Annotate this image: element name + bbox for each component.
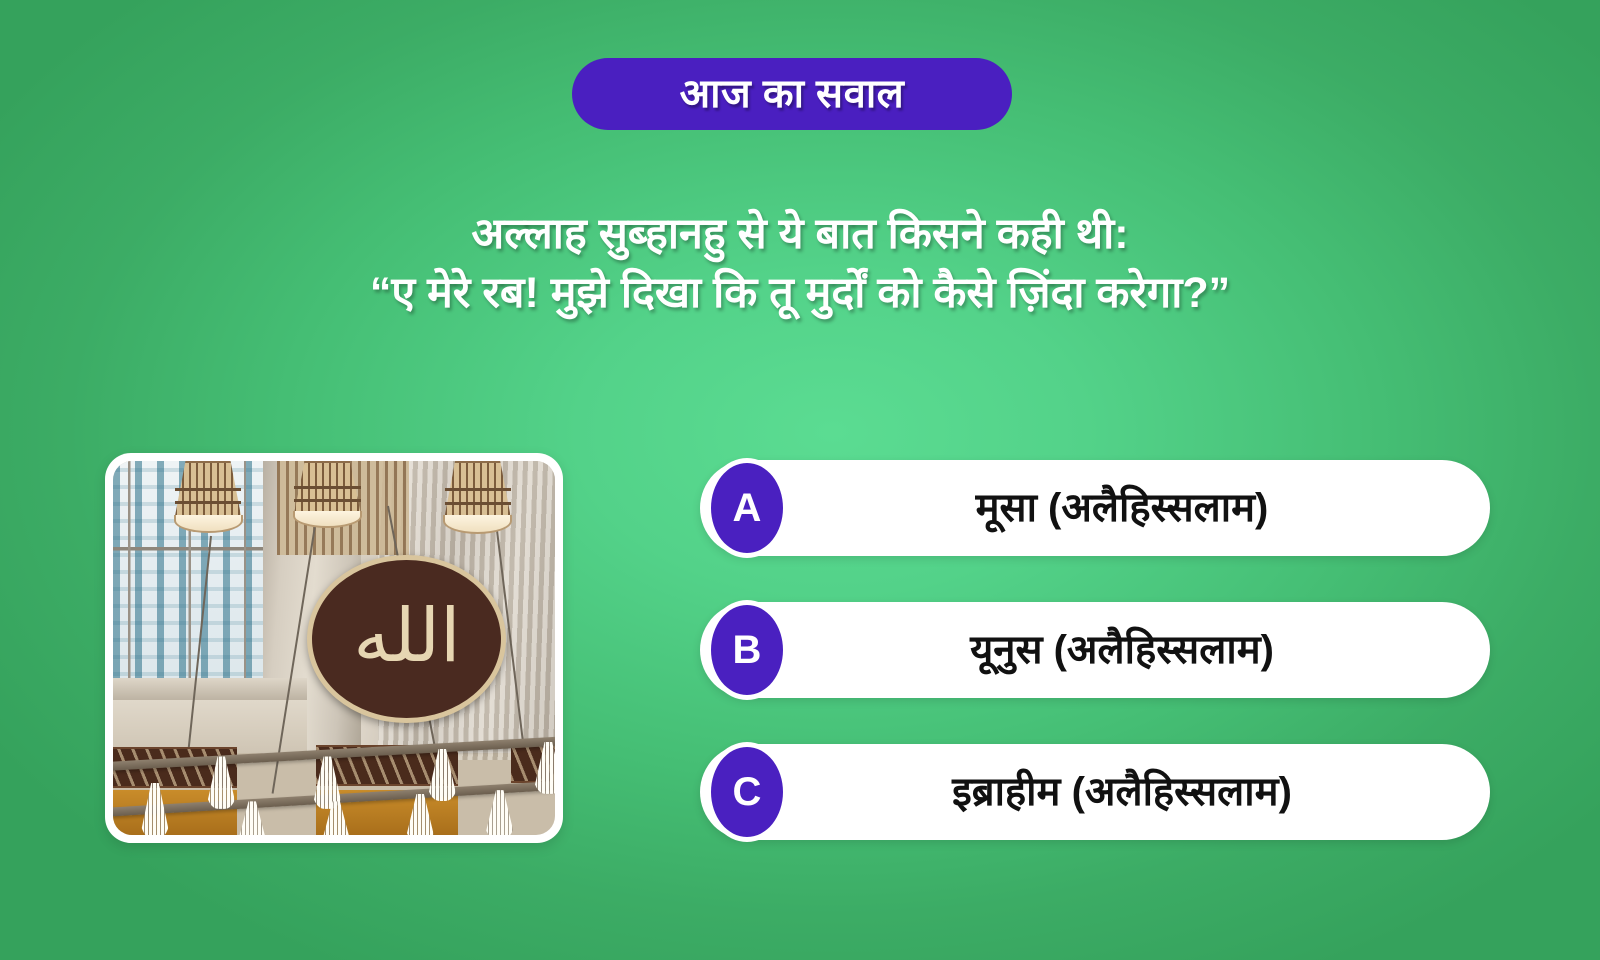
photo-ledge: [113, 678, 307, 700]
quiz-card: आज का सवाल अल्लाह सुब्हानहु से ये बात कि…: [0, 0, 1600, 960]
question-text: अल्लाह सुब्हानहु से ये बात किसने कही थी:…: [0, 205, 1600, 324]
question-line-1: अल्लाह सुब्हानहु से ये बात किसने कही थी:: [0, 205, 1600, 264]
photo-card: الله: [105, 453, 563, 843]
option-a-label: मूसा (अलैहिस्सलाम): [700, 488, 1490, 528]
option-c-letter: C: [733, 772, 762, 812]
cone-lamp-8: [484, 790, 515, 835]
option-a[interactable]: A मूसा (अलैहिस्सलाम): [700, 460, 1490, 556]
pendant-lamp-3: [445, 461, 511, 555]
option-b-letter-badge: B: [706, 600, 788, 700]
question-line-2: “ए मेरे रब! मुझे दिखा कि तू मुर्दों को क…: [0, 264, 1600, 323]
header-badge: आज का सवाल: [572, 58, 1012, 130]
allah-glyph: الله: [353, 599, 460, 673]
pendant-lamp-1: [175, 461, 241, 551]
options-list: A मूसा (अलैहिस्सलाम) B यूनुस (अलैहिस्सला…: [700, 460, 1490, 886]
option-b[interactable]: B यूनुस (अलैहिस्सलाम): [700, 602, 1490, 698]
option-c-letter-badge: C: [706, 742, 788, 842]
option-b-letter: B: [733, 630, 762, 670]
option-a-letter: A: [733, 488, 762, 528]
option-c-label: इब्राहीम (अलैहिस्सलाम): [700, 772, 1490, 812]
option-a-letter-badge: A: [706, 458, 788, 558]
mosque-photo: الله: [113, 461, 555, 835]
header-badge-label: आज का सवाल: [680, 74, 905, 114]
option-c[interactable]: C इब्राहीम (अलैहिस्सलाम): [700, 744, 1490, 840]
pendant-lamp-2: [294, 461, 360, 547]
option-b-label: यूनुस (अलैहिस्सलाम): [700, 630, 1490, 670]
allah-calligraphy-medallion: الله: [307, 555, 506, 723]
